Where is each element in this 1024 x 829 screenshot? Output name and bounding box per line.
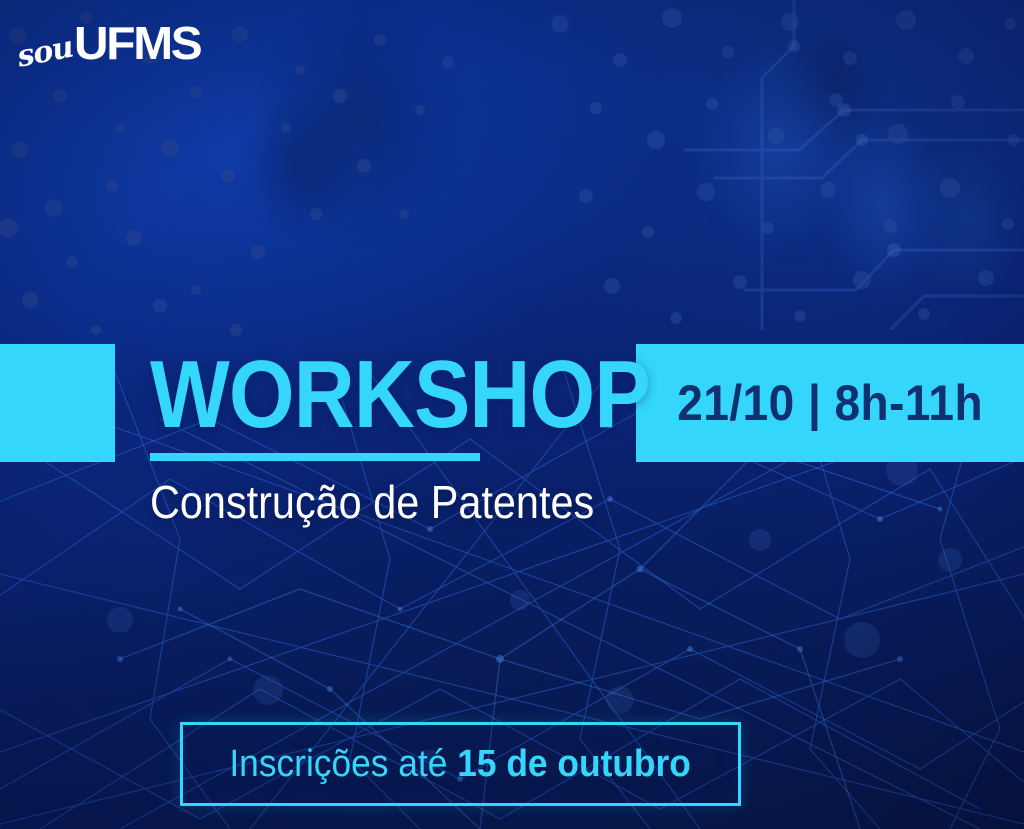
registration-deadline-date: 15 de outubro bbox=[458, 743, 692, 785]
page-title: WORKSHOP bbox=[150, 348, 650, 441]
registration-deadline-text: Inscrições até 15 de outubro bbox=[230, 745, 691, 783]
page-subtitle: Construção de Patentes bbox=[150, 477, 594, 528]
sou-ufms-logo: sou UFMS bbox=[20, 22, 195, 64]
date-badge-text: 21/10 | 8h-11h bbox=[677, 378, 983, 428]
registration-deadline-box: Inscrições até 15 de outubro bbox=[180, 722, 741, 806]
logo-acronym: UFMS bbox=[74, 22, 200, 64]
title-underline-rule bbox=[150, 453, 480, 461]
accent-block-left bbox=[0, 344, 115, 462]
poster-canvas: sou UFMS 21/10 | 8h-11h WORKSHOP Constru… bbox=[0, 0, 1024, 829]
headline-group: WORKSHOP bbox=[150, 348, 718, 441]
registration-prefix: Inscrições até bbox=[230, 743, 458, 785]
